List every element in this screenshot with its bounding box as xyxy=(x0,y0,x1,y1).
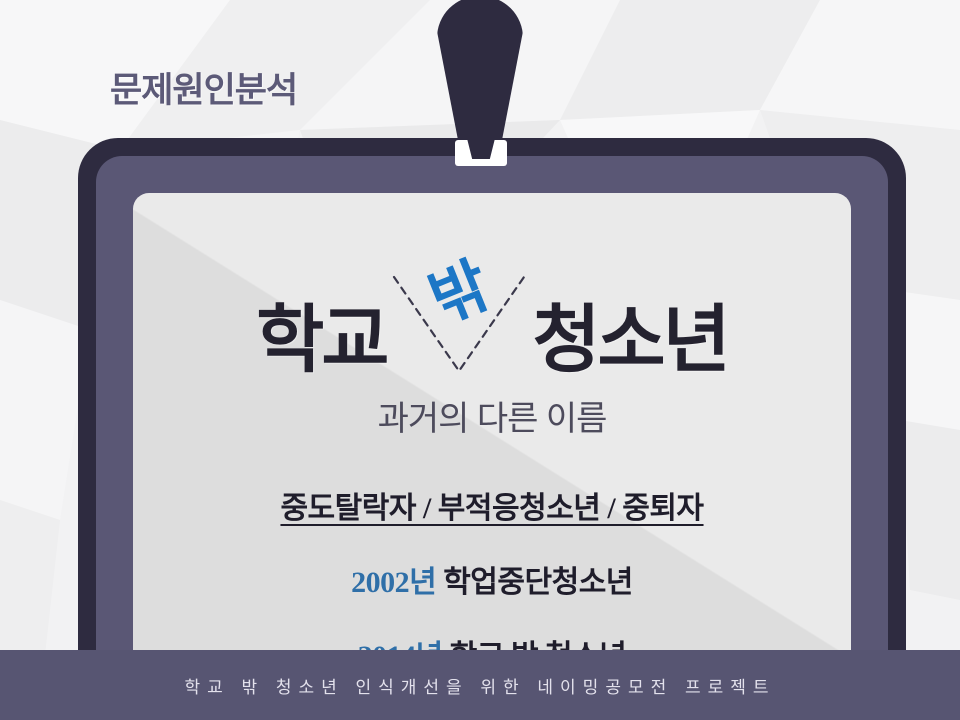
page-title: 문제원인분석 xyxy=(110,62,297,113)
footer-bar: 학교 밖 청소년 인식개선을 위한 네이밍공모전 프로젝트 xyxy=(0,650,960,720)
body-line: 2002년 학업중단청소년 xyxy=(133,557,851,601)
lanyard-clip xyxy=(455,140,507,166)
logo-lockup: 학교 밖 청소년 xyxy=(133,257,851,377)
id-card-face: 학교 밖 청소년 과거의 다른 이름 중도탈락자 / 부적응청소년 / 중퇴자 xyxy=(133,193,851,680)
id-card: 학교 밖 청소년 과거의 다른 이름 중도탈락자 / 부적응청소년 / 중퇴자 xyxy=(78,138,906,698)
card-subtitle: 과거의 다른 이름 xyxy=(133,391,851,440)
logo-word-right: 청소년 xyxy=(532,303,727,377)
footer-tagline: 학교 밖 청소년 인식개선을 위한 네이밍공모전 프로젝트 xyxy=(184,673,775,698)
body-line: 중도탈락자 / 부적응청소년 / 중퇴자 xyxy=(133,483,851,527)
body-line-text: 학업중단청소년 xyxy=(443,566,633,599)
id-card-inner-border: 학교 밖 청소년 과거의 다른 이름 중도탈락자 / 부적응청소년 / 중퇴자 xyxy=(96,156,888,680)
body-line-text: 중도탈락자 / 부적응청소년 / 중퇴자 xyxy=(280,492,703,525)
logo-word-left: 학교 xyxy=(256,303,386,377)
slide-canvas: 문제원인분석 학교 밖 청소년 과거 xyxy=(0,0,960,720)
body-line-year: 2002년 xyxy=(351,566,443,599)
logo-highlight-group: 밖 xyxy=(386,257,532,377)
